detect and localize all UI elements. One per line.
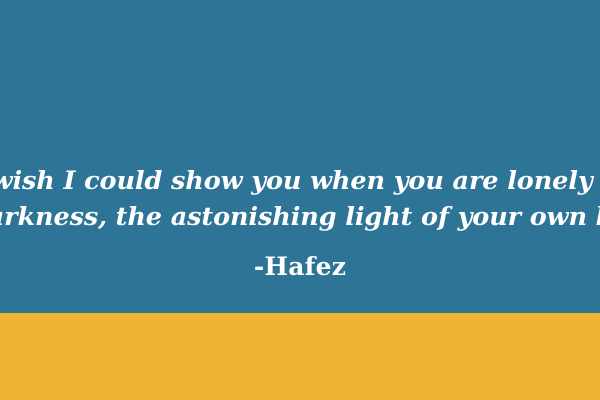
quote-attribution: -Hafez (0, 252, 600, 282)
bottom-color-band (0, 313, 600, 400)
quote-text: I wish I could show you when you are lon… (0, 163, 600, 235)
quote-line-1: I wish I could show you when you are lon… (0, 163, 600, 199)
quote-line-2: darkness, the astonishing light of your … (0, 199, 600, 235)
quote-card: I wish I could show you when you are lon… (0, 0, 600, 400)
quote-block: I wish I could show you when you are lon… (0, 0, 600, 313)
